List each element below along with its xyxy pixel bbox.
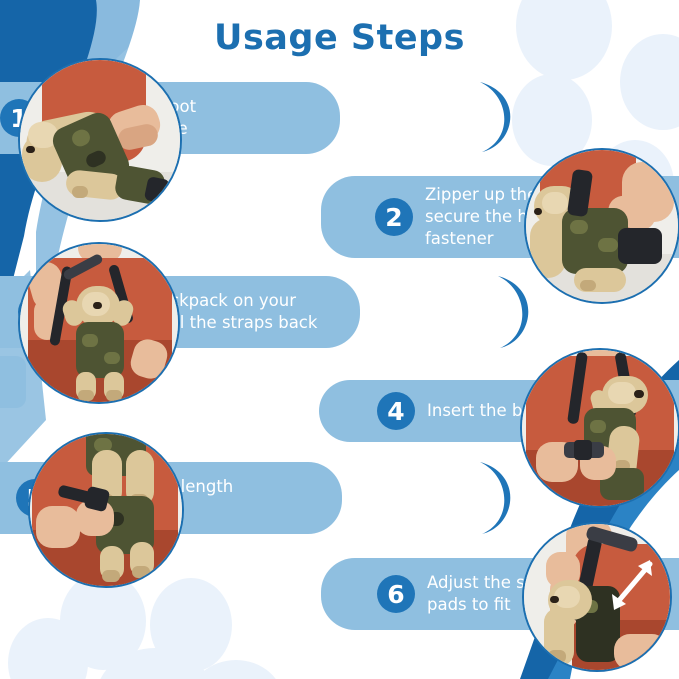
- photo-step-3-backpack-on-chest: [18, 242, 180, 404]
- page-title: Usage Steps: [0, 18, 679, 58]
- double-arrow-annotation: [600, 554, 660, 616]
- photo-scene: [20, 244, 178, 402]
- photo-step-6-adjust-shoulder-pads: [522, 522, 672, 672]
- usage-steps-infographic: Usage Steps 1 Put the dog's foot through…: [0, 0, 679, 679]
- photo-scene: [526, 150, 678, 302]
- step-number-badge-6: 6: [377, 575, 415, 613]
- photo-scene: [524, 524, 670, 670]
- step-number-badge-2: 2: [375, 198, 413, 236]
- photo-scene: [522, 350, 678, 506]
- blue-crescent-accent: [470, 78, 522, 156]
- photo-scene: [30, 434, 182, 586]
- photo-step-4-insert-buckle: [520, 348, 679, 508]
- photo-step-5-adjust-strap-length: [28, 432, 184, 588]
- photo-step-1-dog-into-carrier: [18, 58, 182, 222]
- photo-scene: [20, 60, 180, 220]
- photo-step-2-zipping-carrier: [524, 148, 679, 304]
- step-number-badge-4: 4: [377, 392, 415, 430]
